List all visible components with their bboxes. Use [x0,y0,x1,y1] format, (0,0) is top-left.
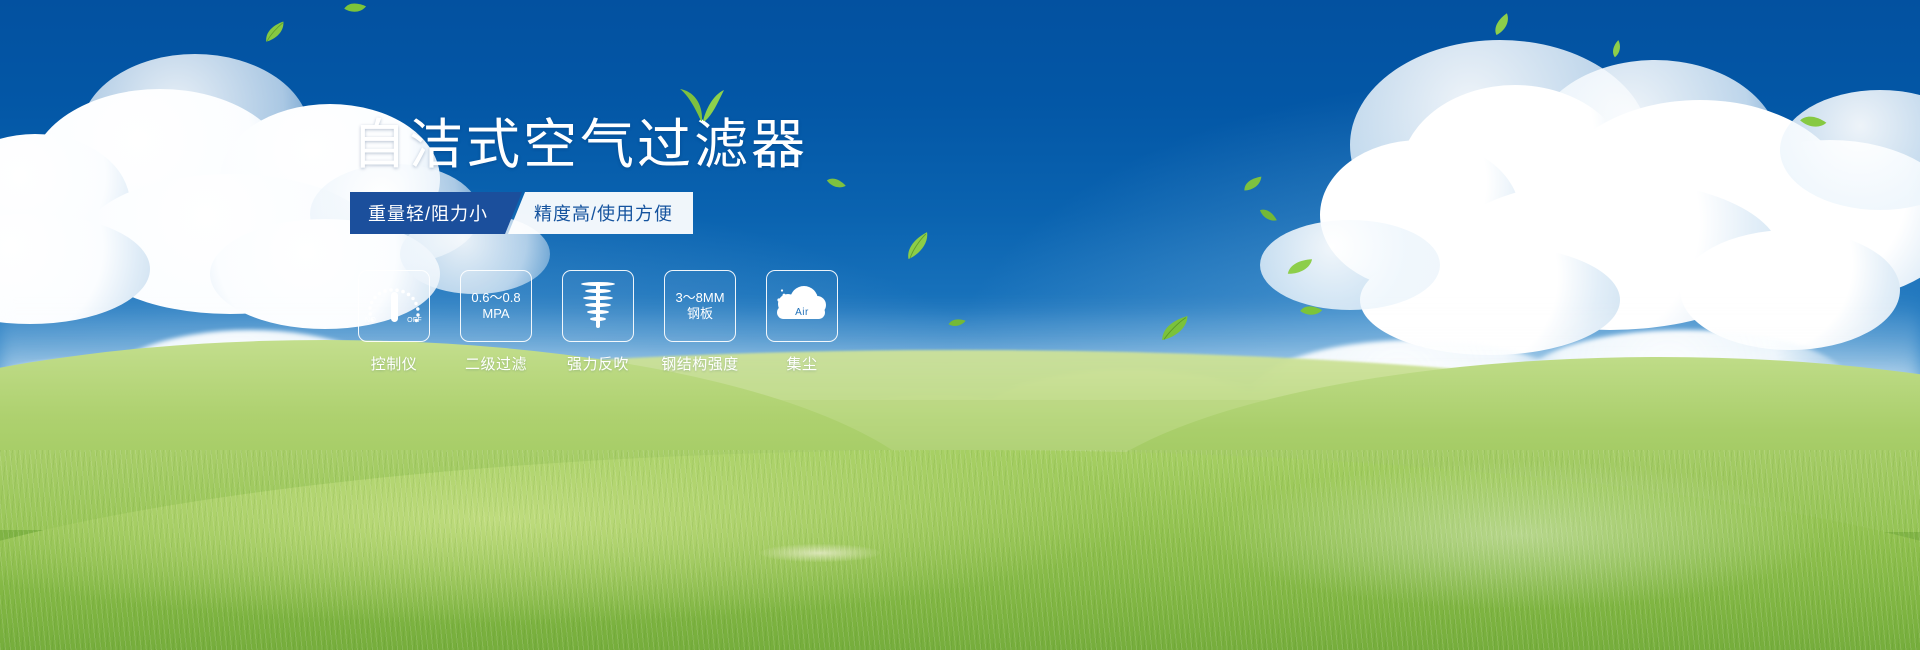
feature-icon-box: NO OFF [358,270,430,342]
feature-item-controller[interactable]: NO OFF 控制仪 [358,270,430,374]
gauge-dial-icon: NO OFF [366,284,422,328]
feature-icon-box [562,270,634,342]
filter-layers-icon [576,282,620,330]
banner-content: 自洁式空气过滤器 重量轻/阻力小 精度高/使用方便 [0,0,1920,650]
page-title: 自洁式空气过滤器 [352,118,808,172]
title-leaf-icon [679,88,725,127]
feature-label: 二级过滤 [465,353,527,374]
feature-label: 集尘 [786,353,817,374]
steel-plate-text-icon-line2: 钢板 [687,306,713,322]
filter-stem [596,284,600,328]
tag-lightweight[interactable]: 重量轻/阻力小 [350,192,522,234]
feature-item-two-stage-filter[interactable]: 0.6～0.8 MPA 二级过滤 [460,270,532,374]
feature-item-steel-strength[interactable]: 3～8MM 钢板 钢结构强度 [664,270,736,374]
gauge-needle [391,292,398,322]
tag-group: 重量轻/阻力小 精度高/使用方便 [350,192,693,234]
air-text: Air [774,307,830,319]
feature-label: 控制仪 [371,353,418,374]
feature-icon-box: 0.6～0.8 MPA [460,270,532,342]
steel-plate-text-icon-line1: 3～8MM [675,290,724,306]
feature-item-back-blow[interactable]: 强力反吹 [562,270,634,374]
feature-label: 钢结构强度 [661,353,739,374]
pressure-text-icon-line1: 0.6～0.8 [471,290,520,306]
gauge-label-no: NO [365,317,376,326]
tag-precision[interactable]: 精度高/使用方便 [508,192,693,234]
feature-list: NO OFF 控制仪 0.6～0.8 MPA 二级过滤 [358,270,838,374]
feature-item-dust-collection[interactable]: Air 集尘 [766,270,838,374]
feature-label: 强力反吹 [567,353,629,374]
pressure-text-icon-line2: MPA [482,306,509,322]
feature-icon-box: 3～8MM 钢板 [664,270,736,342]
feature-icon-box: Air [766,270,838,342]
hero-banner: 自洁式空气过滤器 重量轻/阻力小 精度高/使用方便 [0,0,1920,650]
gauge-label-off: OFF [407,317,422,326]
cloud-air-icon: Air [774,284,830,328]
